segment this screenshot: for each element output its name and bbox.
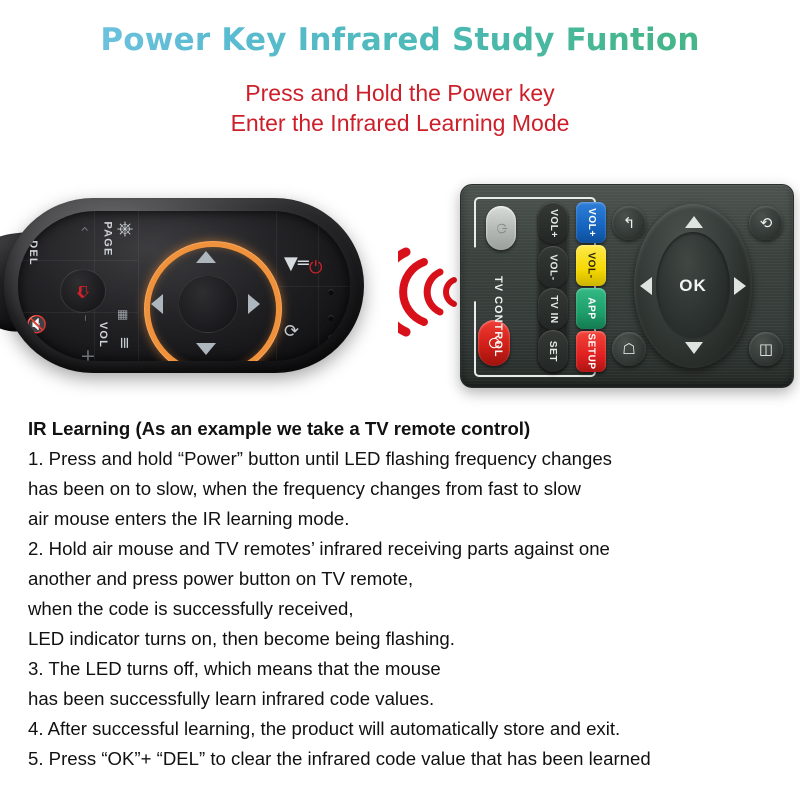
back-arrow-icon[interactable]: ⎈ bbox=[116, 221, 136, 237]
tv-remote-control: ⏻ ⏻ TV CONTROL VOL+ VOL- TV IN SET VOL+ … bbox=[460, 184, 792, 386]
instruction-line: another and press power button on TV rem… bbox=[28, 564, 780, 594]
tv-remote-volume-down-button[interactable]: VOL- bbox=[538, 246, 568, 288]
page-root: Power Key Infrared Study Funtion Press a… bbox=[0, 0, 800, 800]
chevron-left-icon[interactable]: ‹ bbox=[77, 226, 93, 232]
device-illustration-stage: DEL 🔇 PAGE ‹ › VOL – + ➭ ⎈ ▦ ≡ bbox=[0, 160, 800, 410]
page-title: Power Key Infrared Study Funtion bbox=[0, 22, 800, 58]
tv-remote-set-button[interactable]: SET bbox=[538, 330, 568, 372]
air-mouse-del-label[interactable]: DEL bbox=[27, 240, 39, 266]
subtitle-line-1: Press and Hold the Power key bbox=[0, 80, 800, 107]
instruction-line: when the code is successfully received, bbox=[28, 594, 780, 624]
air-mouse-keypad-face: DEL 🔇 PAGE ‹ › VOL – + ➭ ⎈ ▦ ≡ bbox=[18, 211, 350, 361]
power-icon: ⏻ bbox=[493, 223, 508, 233]
return-arrow-icon[interactable]: ↰ bbox=[612, 206, 646, 240]
home-icon[interactable]: ☖ bbox=[612, 332, 646, 366]
mouse-cursor-icon[interactable]: ▼═ bbox=[284, 255, 309, 273]
header: Power Key Infrared Study Funtion Press a… bbox=[0, 0, 800, 160]
mute-mic-icon[interactable]: 🔇 bbox=[26, 317, 47, 334]
instruction-line: 1. Press and hold “Power” button until L… bbox=[28, 444, 780, 474]
instruction-line: 3. The LED turns off, which means that t… bbox=[28, 654, 780, 684]
air-mouse-remote: DEL 🔇 PAGE ‹ › VOL – + ➭ ⎈ ▦ ≡ bbox=[0, 178, 374, 393]
power-icon[interactable]: ⏻ bbox=[309, 258, 322, 278]
air-mouse-page-label[interactable]: PAGE bbox=[102, 221, 114, 256]
key-separator bbox=[276, 286, 350, 287]
instructions-heading: IR Learning (As an example we take a TV … bbox=[28, 414, 780, 444]
plus-icon[interactable]: + bbox=[80, 347, 96, 361]
arrow-right-icon[interactable] bbox=[248, 294, 260, 314]
arrow-up-icon[interactable] bbox=[196, 251, 216, 263]
led-indicator-3 bbox=[328, 335, 334, 341]
air-mouse-vol-label[interactable]: VOL bbox=[97, 322, 109, 348]
tv-remote-app-button[interactable]: APP bbox=[576, 288, 606, 329]
source-input-icon[interactable]: ⟲ bbox=[749, 206, 783, 240]
home-red-icon: ➭ bbox=[73, 283, 92, 299]
menu-icon[interactable]: ◫ bbox=[749, 332, 783, 366]
led-indicator-2 bbox=[328, 315, 334, 321]
arrow-right-icon[interactable] bbox=[734, 277, 746, 295]
tv-remote-tv-in-button[interactable]: TV IN bbox=[538, 288, 568, 330]
arrow-down-icon[interactable] bbox=[196, 343, 216, 355]
tv-control-label: TV CONTROL bbox=[492, 276, 504, 366]
tv-remote-volume-up-button[interactable]: VOL+ bbox=[538, 202, 568, 244]
instruction-line: 4. After successful learning, the produc… bbox=[28, 714, 780, 744]
instruction-line: 2. Hold air mouse and TV remotes’ infrar… bbox=[28, 534, 780, 564]
arrow-left-icon[interactable] bbox=[640, 277, 652, 295]
minus-icon[interactable]: – bbox=[79, 315, 93, 322]
arrow-up-icon[interactable] bbox=[685, 216, 703, 228]
instruction-line: LED indicator turns on, then become bein… bbox=[28, 624, 780, 654]
subtitle-line-2: Enter the Infrared Learning Mode bbox=[0, 110, 800, 137]
instruction-line: 5. Press “OK”+ “DEL” to clear the infrar… bbox=[28, 744, 780, 774]
arrow-left-icon[interactable] bbox=[151, 294, 163, 314]
ok-label: OK bbox=[679, 276, 707, 296]
air-mouse-home-button[interactable]: ➭ bbox=[60, 269, 106, 313]
tv-remote-setup-button[interactable]: SETUP bbox=[576, 331, 606, 372]
tv-remote-ok-button[interactable]: OK bbox=[656, 232, 730, 340]
instruction-line: has been successfully learn infrared cod… bbox=[28, 684, 780, 714]
arrow-down-icon[interactable] bbox=[685, 342, 703, 354]
instructions-block: IR Learning (As an example we take a TV … bbox=[28, 414, 780, 774]
key-separator bbox=[138, 211, 139, 361]
instruction-line: has been on to slow, when the frequency … bbox=[28, 474, 780, 504]
tv-remote-color-volume-down-button[interactable]: VOL- bbox=[576, 245, 606, 286]
key-separator bbox=[318, 211, 319, 361]
app-grid-icon[interactable]: ▦ bbox=[118, 309, 130, 320]
instruction-line: air mouse enters the IR learning mode. bbox=[28, 504, 780, 534]
menu-lines-icon[interactable]: ≡ bbox=[117, 336, 133, 349]
tv-remote-power-gray-button[interactable]: ⏻ bbox=[486, 206, 516, 250]
rotate-arrow-icon[interactable]: ⟳ bbox=[284, 323, 299, 341]
air-mouse-ok-button[interactable] bbox=[178, 275, 238, 333]
led-indicator-1 bbox=[328, 289, 334, 295]
tv-remote-color-volume-up-button[interactable]: VOL+ bbox=[576, 202, 606, 243]
key-separator bbox=[94, 260, 138, 261]
